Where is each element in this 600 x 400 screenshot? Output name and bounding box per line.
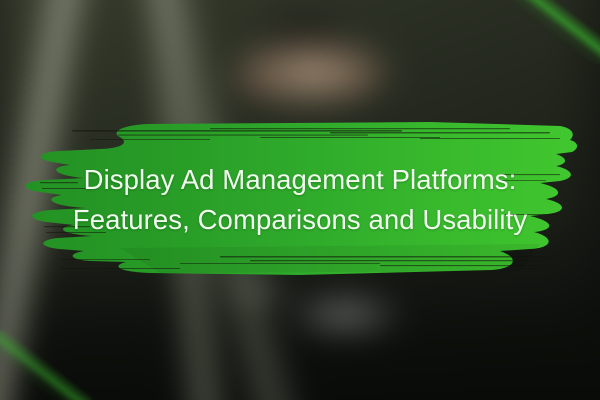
title-line-1: Display Ad Management Platforms: xyxy=(84,161,517,199)
header-card: Display Ad Management Platforms: Feature… xyxy=(0,0,600,400)
page-title: Display Ad Management Platforms: Feature… xyxy=(0,118,600,282)
title-line-2: Features, Comparisons and Usability xyxy=(73,201,527,239)
